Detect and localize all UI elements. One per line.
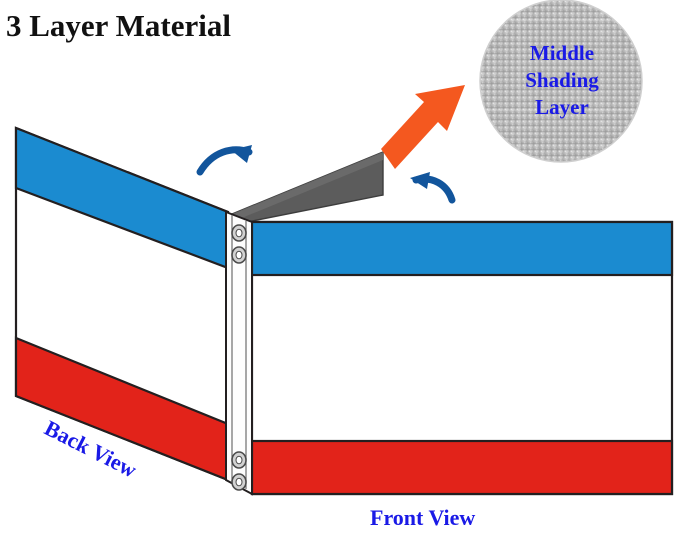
front-view-flag-panel xyxy=(252,222,672,494)
arrow-middle-layer-body xyxy=(381,85,465,169)
diagram-canvas: 3 Layer Material Middle Shading Layer Fr… xyxy=(0,0,679,539)
front-view-label: Front View xyxy=(370,505,475,531)
grommet-header-strip xyxy=(226,212,252,494)
arrow-front-view xyxy=(410,172,452,200)
grommet-hole xyxy=(236,456,242,464)
callout-line-3: Layer xyxy=(487,94,637,121)
arrow-middle-layer xyxy=(381,85,465,169)
callout-line-2: Shading xyxy=(487,67,637,94)
middle-shading-layer-wedge xyxy=(232,152,383,225)
middle-shading-layer-label: Middle Shading Layer xyxy=(487,40,637,121)
callout-line-1: Middle xyxy=(487,40,637,67)
arrow-back-view xyxy=(200,145,252,172)
page-title: 3 Layer Material xyxy=(6,8,231,44)
front-panel-blue-stripe xyxy=(252,222,672,275)
front-panel-red-stripe xyxy=(252,441,672,494)
grommet-hole xyxy=(236,478,242,486)
grommet-hole xyxy=(236,229,242,237)
grommet-hole xyxy=(236,251,242,259)
